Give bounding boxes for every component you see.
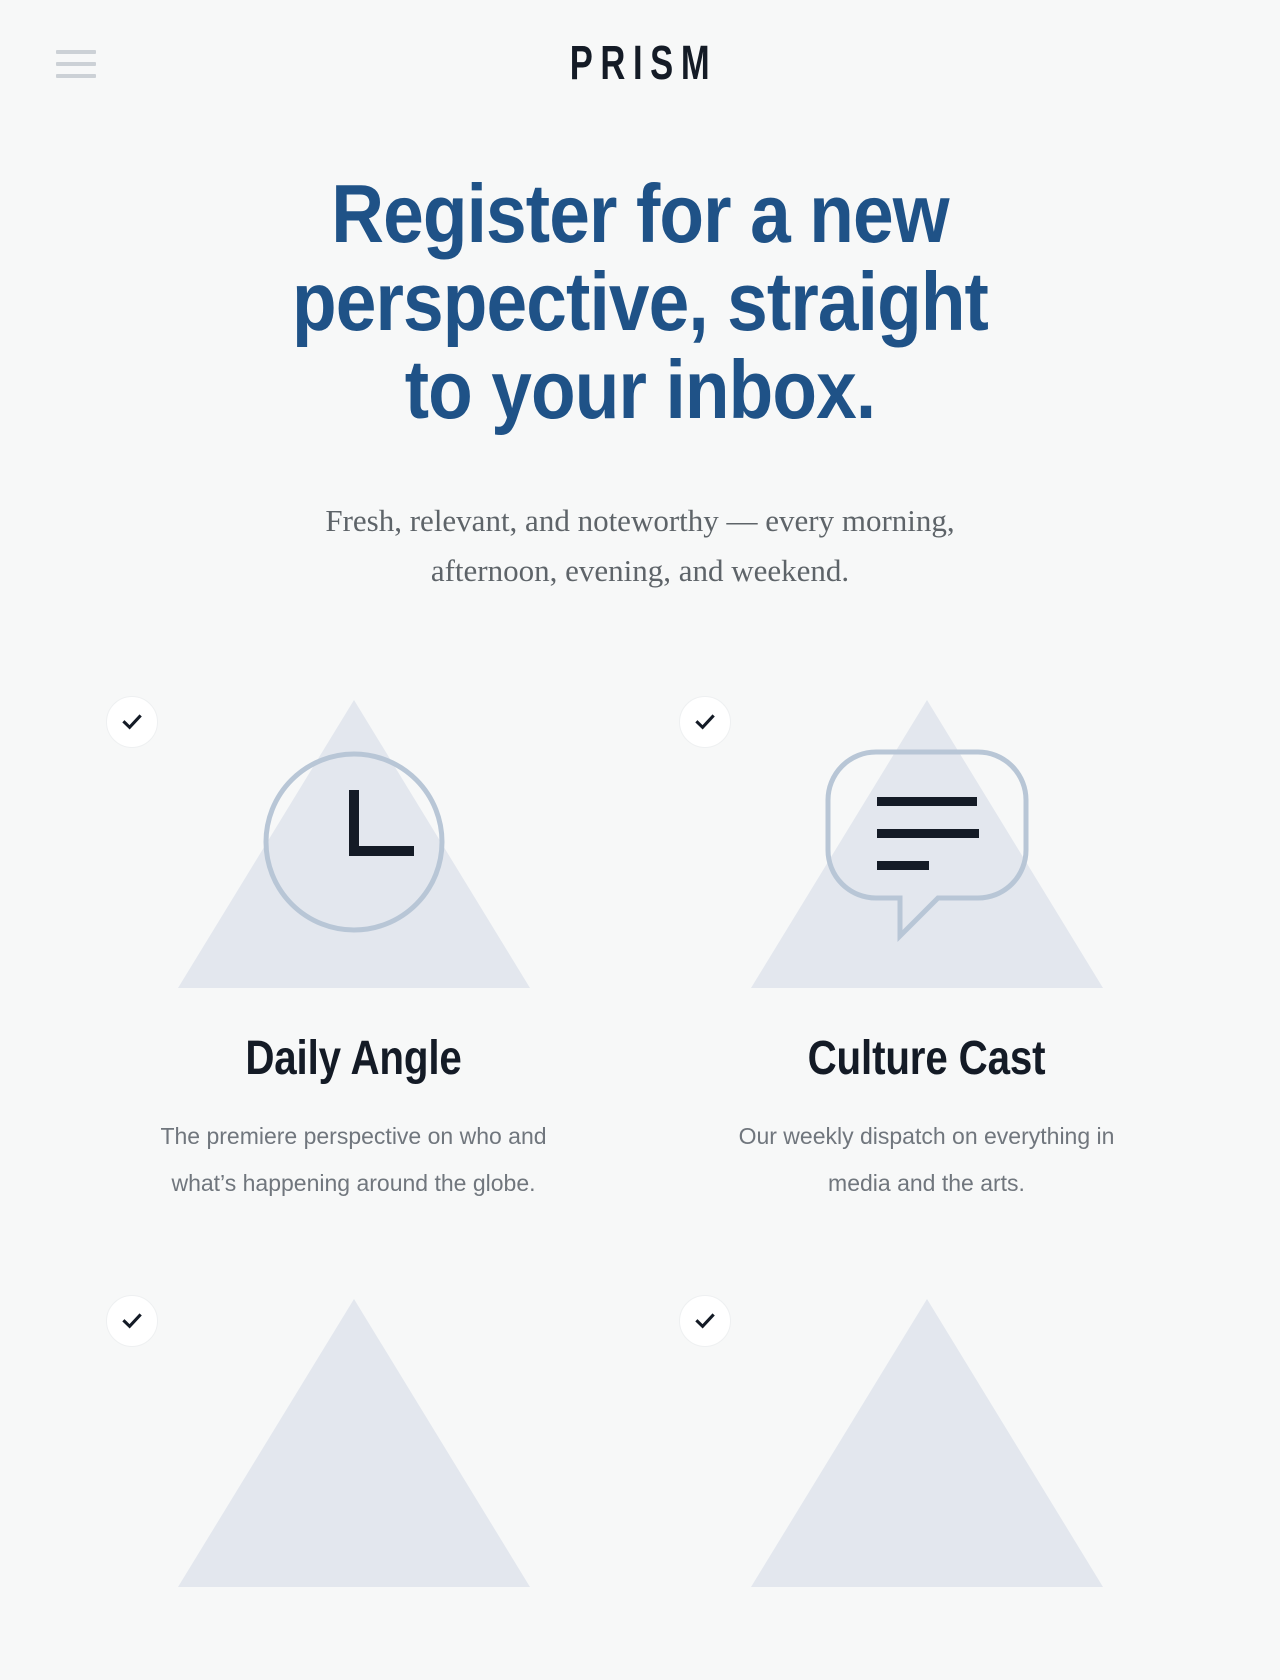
check-icon[interactable]: [106, 696, 158, 748]
hero-section: Register for a new perspective, straight…: [0, 128, 1280, 596]
card-media: [90, 1287, 617, 1587]
triangle-shape: [751, 1299, 1103, 1587]
check-icon[interactable]: [679, 696, 731, 748]
check-icon[interactable]: [679, 1295, 731, 1347]
card-title: Culture Cast: [705, 1034, 1148, 1085]
newsletter-grid: Daily Angle The premiere perspective on …: [90, 688, 1190, 1632]
site-header: PRISM: [0, 0, 1280, 128]
triangle-shape: [178, 1299, 530, 1587]
newsletter-card-culture-cast[interactable]: Culture Cast Our weekly dispatch on ever…: [663, 688, 1190, 1206]
card-description: Our weekly dispatch on everything in med…: [732, 1113, 1122, 1206]
check-icon[interactable]: [106, 1295, 158, 1347]
hamburger-menu-icon[interactable]: [56, 50, 96, 78]
card-media: [663, 1287, 1190, 1587]
hamburger-bar-1: [56, 50, 96, 54]
clock-icon: [256, 744, 452, 940]
hamburger-bar-3: [56, 74, 96, 78]
site-logo[interactable]: PRISM: [562, 40, 717, 88]
page-subtitle: Fresh, relevant, and noteworthy — every …: [310, 496, 970, 596]
newsletter-card-daily-angle[interactable]: Daily Angle The premiere perspective on …: [90, 688, 617, 1206]
newsletter-card-3[interactable]: [90, 1287, 617, 1633]
card-media: [90, 688, 617, 988]
card-title: Daily Angle: [132, 1034, 575, 1085]
newsletter-card-4[interactable]: [663, 1287, 1190, 1633]
hamburger-bar-2: [56, 62, 96, 66]
card-media: [663, 688, 1190, 988]
speech-bubble-icon: [820, 744, 1034, 944]
card-description: The premiere perspective on who and what…: [159, 1113, 549, 1206]
page-root: PRISM Register for a new perspective, st…: [0, 0, 1280, 1680]
page-title: Register for a new perspective, straight…: [288, 170, 992, 434]
